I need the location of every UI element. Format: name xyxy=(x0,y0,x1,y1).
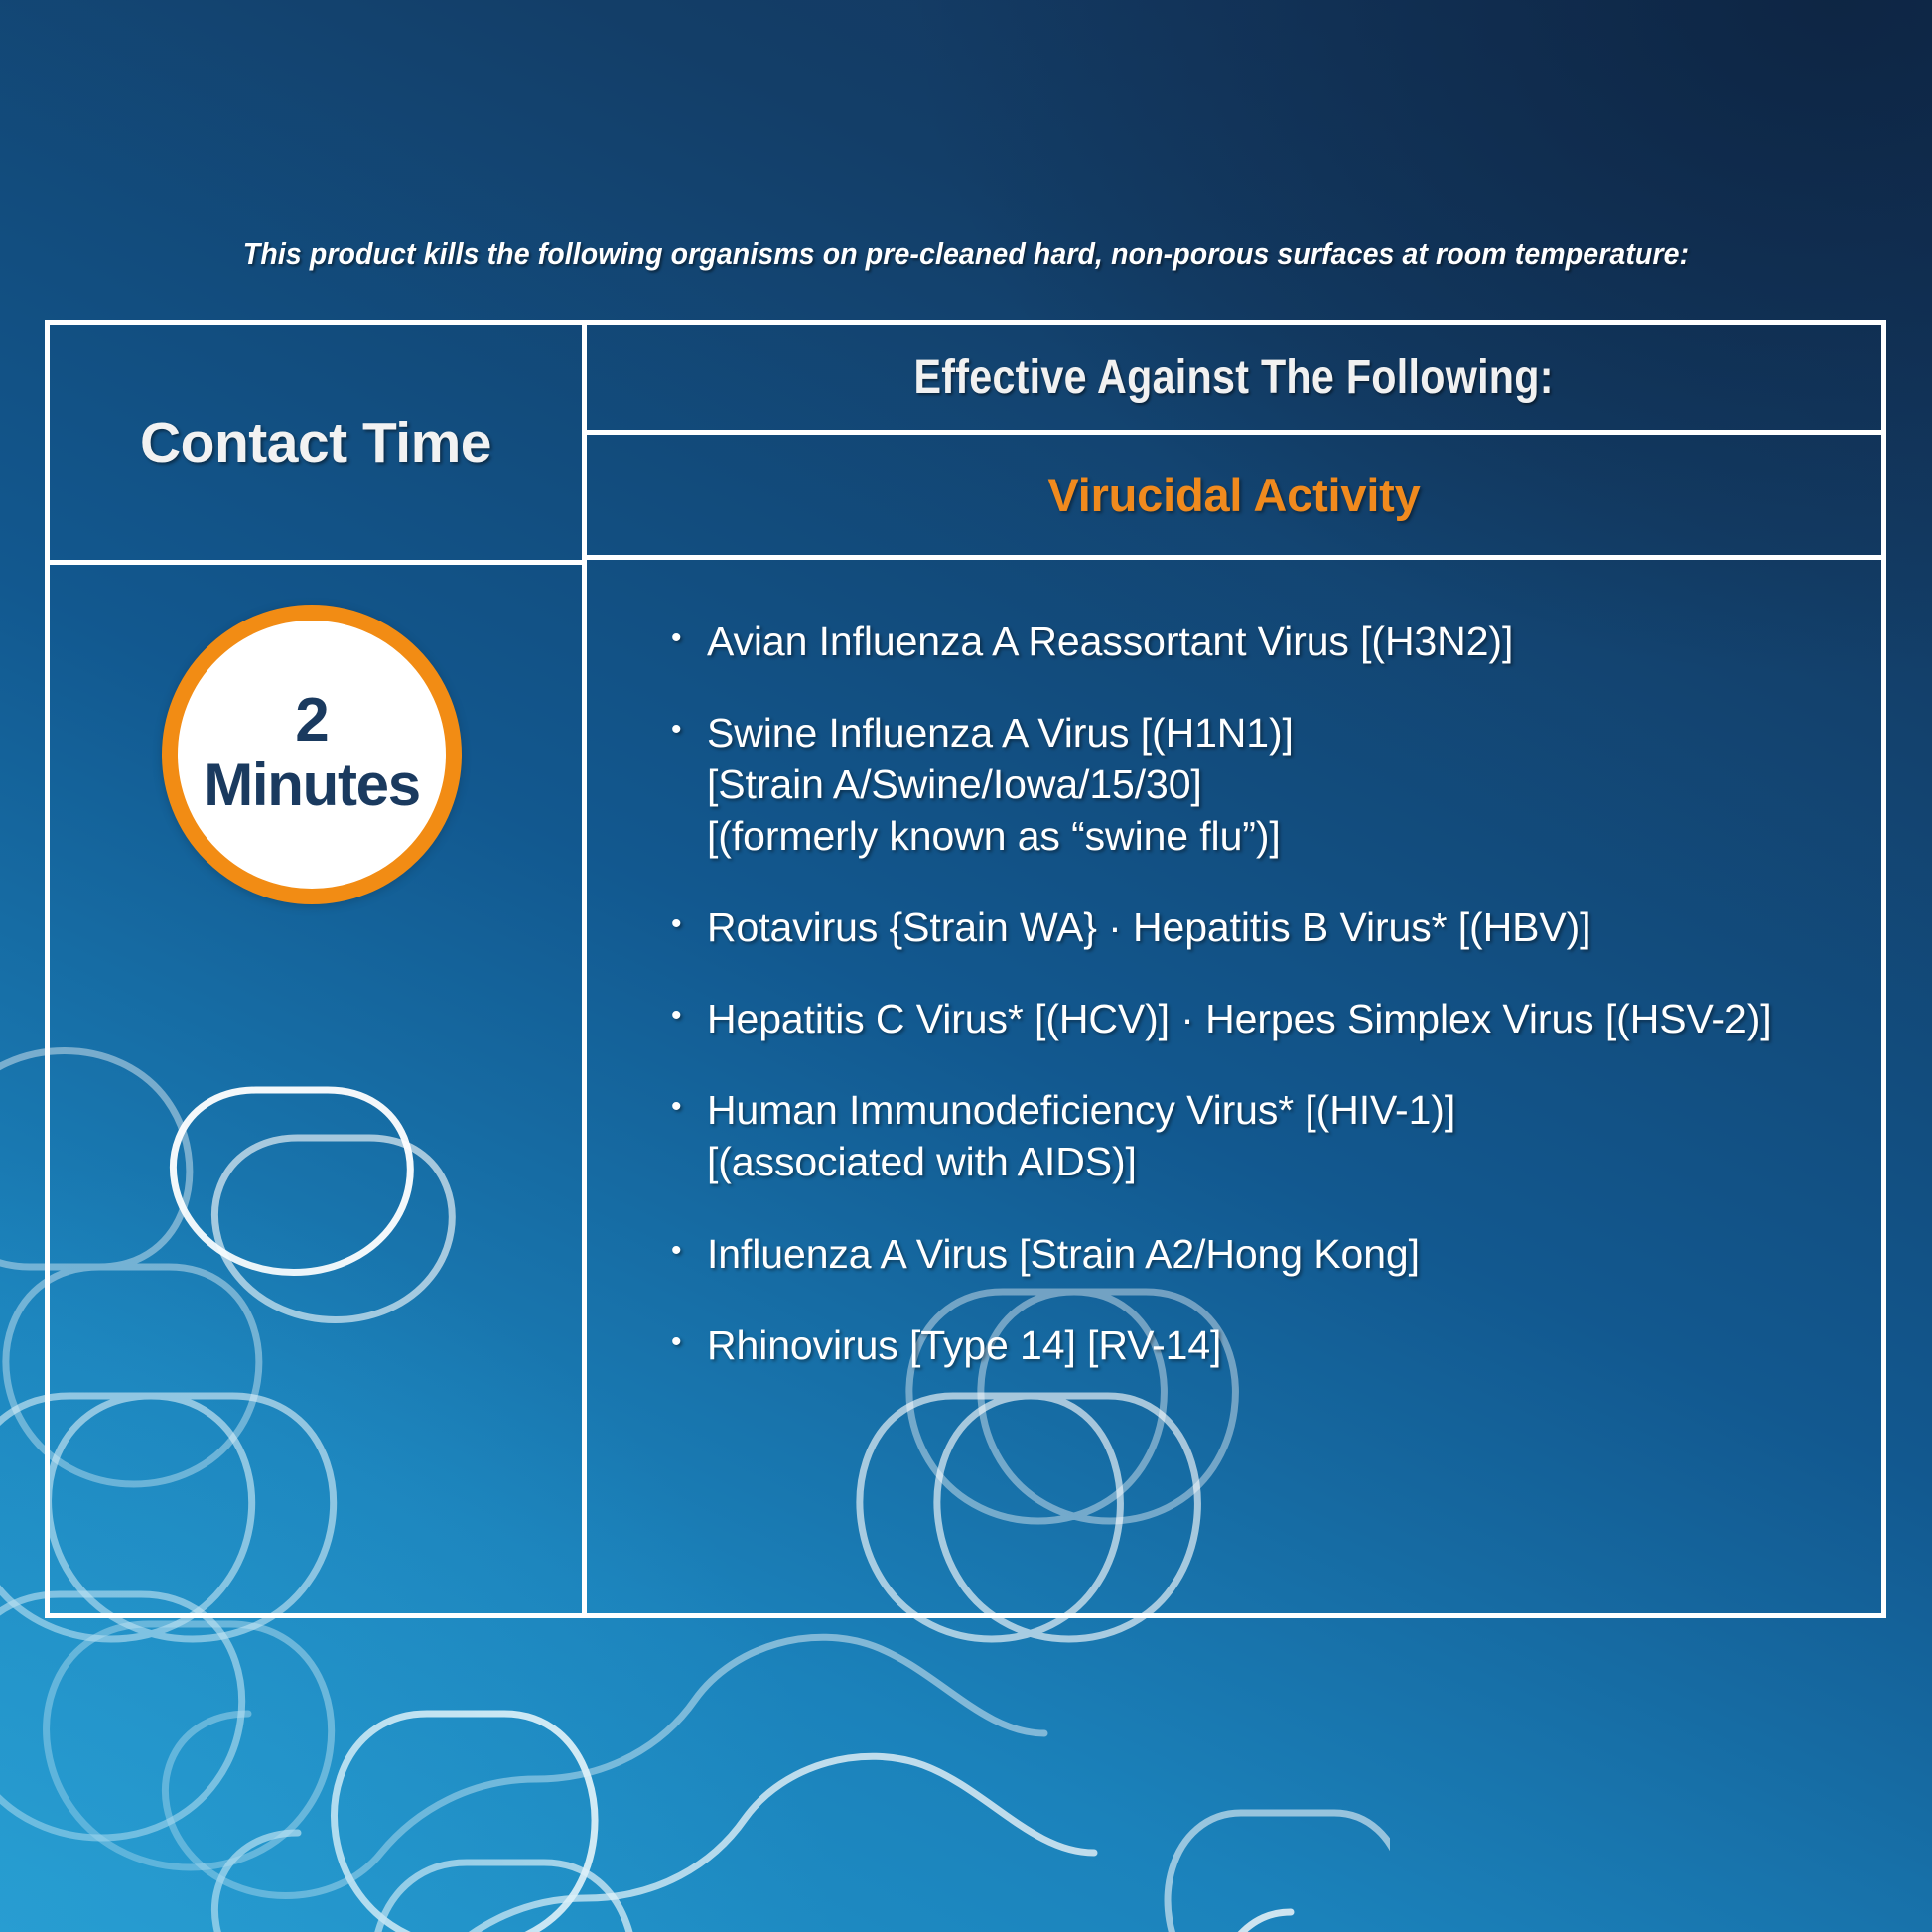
efficacy-table: Contact Time 2 Minutes Effective Against… xyxy=(45,320,1886,1618)
effective-against-label: Effective Against The Following: xyxy=(914,350,1554,405)
list-item: Human Immunodeficiency Virus* [(HIV-1)] … xyxy=(671,1084,1856,1187)
list-item: Swine Influenza A Virus [(H1N1)] [Strain… xyxy=(671,707,1856,862)
badge-unit: Minutes xyxy=(204,752,420,818)
contact-time-header-cell: Contact Time xyxy=(50,325,582,565)
list-item: Influenza A Virus [Strain A2/Hong Kong] xyxy=(671,1228,1856,1280)
contact-time-badge: 2 Minutes xyxy=(162,605,462,904)
list-item: Rhinovirus [Type 14] [RV-14] xyxy=(671,1319,1856,1371)
list-item: Rotavirus {Strain WA} · Hepatitis B Viru… xyxy=(671,901,1856,953)
contact-time-label: Contact Time xyxy=(140,410,491,476)
contact-time-value-cell: 2 Minutes xyxy=(50,565,582,904)
virus-list-cell: Avian Influenza A Reassortant Virus [(H3… xyxy=(587,560,1881,1613)
effective-against-header-cell: Effective Against The Following: xyxy=(587,325,1881,435)
list-item: Avian Influenza A Reassortant Virus [(H3… xyxy=(671,616,1856,667)
virus-list: Avian Influenza A Reassortant Virus [(H3… xyxy=(671,616,1856,1371)
contact-time-column: Contact Time 2 Minutes xyxy=(50,325,587,1613)
effective-against-column: Effective Against The Following: Virucid… xyxy=(587,325,1881,1613)
virucidal-activity-label: Virucidal Activity xyxy=(1047,468,1420,522)
badge-number: 2 xyxy=(295,690,328,752)
virucidal-activity-header-cell: Virucidal Activity xyxy=(587,435,1881,560)
intro-statement: This product kills the following organis… xyxy=(77,236,1855,272)
list-item: Hepatitis C Virus* [(HCV)] · Herpes Simp… xyxy=(671,993,1856,1044)
